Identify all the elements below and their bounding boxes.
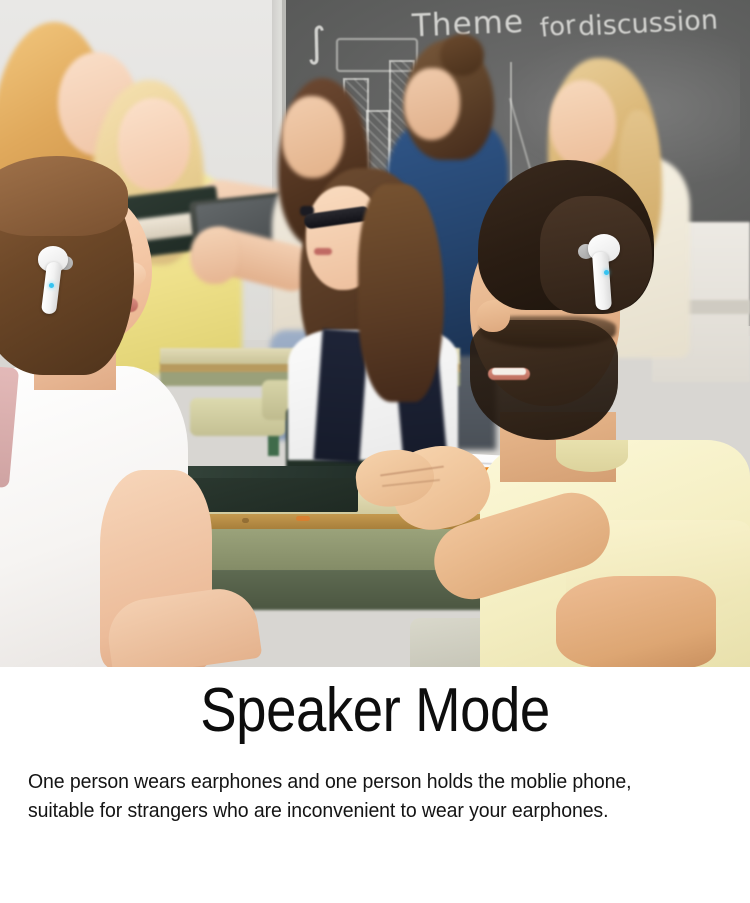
man-teeth (492, 368, 526, 375)
caption-block: Speaker Mode One person wears earphones … (0, 667, 750, 903)
page-description: One person wears earphones and one perso… (28, 767, 670, 825)
product-feature-page: ∫ Theme for discussion (0, 0, 750, 903)
chalk-integral-symbol: ∫ (304, 19, 328, 66)
hero-image-scene: ∫ Theme for discussion (0, 0, 750, 667)
background-person-glasses-mouth (314, 248, 332, 255)
woman-hair-top (0, 156, 128, 236)
background-person-blue-hair-bun (440, 34, 484, 76)
man-upper-arm (556, 576, 716, 667)
page-title: Speaker Mode (45, 677, 705, 745)
background-person-ponytail-face (550, 80, 616, 166)
background-person-tank-face (282, 96, 344, 178)
background-person-tank-hand (190, 228, 238, 284)
desk-book-cover-top (171, 466, 360, 478)
background-person-yellow-face (118, 98, 190, 190)
earbud-right-led-indicator-icon (604, 270, 609, 275)
man-collar (556, 440, 628, 472)
background-person-glasses-hair-front (358, 184, 444, 402)
chalk-word-for: for (539, 10, 578, 44)
desk-scuff-mark (296, 516, 310, 521)
desk-scuff-mark-2 (242, 518, 249, 523)
hero-image: ∫ Theme for discussion (0, 0, 750, 667)
earbud-left-led-indicator-icon (49, 283, 54, 288)
background-person-blue-face (404, 68, 460, 140)
